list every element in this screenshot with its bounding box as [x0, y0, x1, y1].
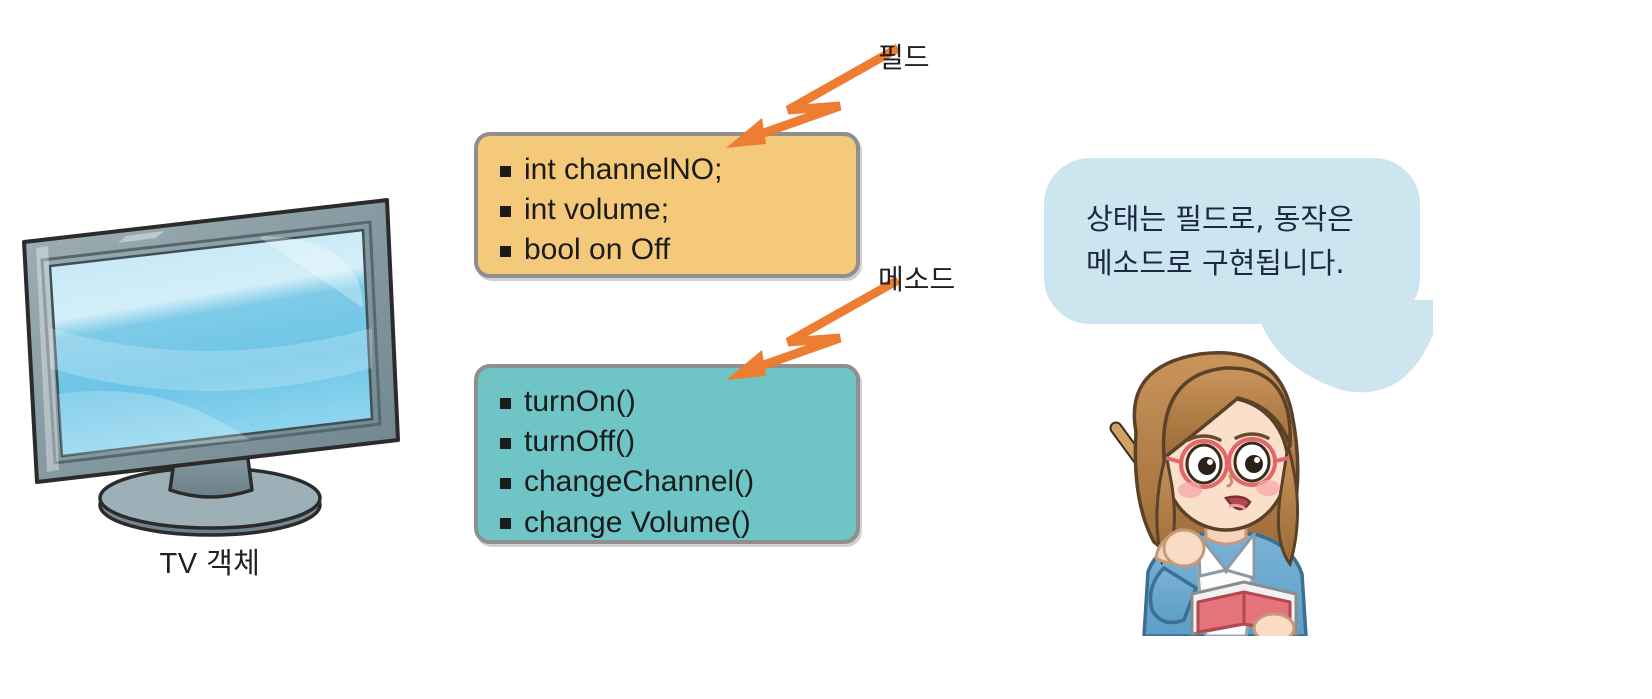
bullet-icon — [500, 438, 511, 449]
list-item: int channelNO; — [500, 150, 856, 190]
bullet-icon — [500, 166, 511, 177]
diagram-canvas: TV 객체 int channelNO; int volume; bool on… — [0, 0, 1652, 699]
bullet-icon — [500, 478, 511, 489]
field-item-label: bool on Off — [524, 230, 670, 270]
bullet-icon — [500, 518, 511, 529]
bullet-icon — [500, 398, 511, 409]
zigzag-arrow-icon — [722, 44, 902, 154]
method-member-box: turnOn() turnOff() changeChannel() chang… — [474, 364, 860, 544]
list-item: turnOn() — [500, 382, 856, 422]
list-item: bool on Off — [500, 230, 856, 270]
method-item-label: turnOff() — [524, 422, 635, 462]
callout-label-method: 메소드 — [878, 258, 955, 298]
field-item-label: int volume; — [524, 190, 669, 230]
method-item-label: change Volume() — [524, 503, 751, 543]
method-item-label: changeChannel() — [524, 462, 754, 502]
zigzag-arrow-icon — [722, 276, 902, 386]
method-item-label: turnOn() — [524, 382, 636, 422]
list-item: change Volume() — [500, 503, 856, 543]
tv-object-caption: TV 객체 — [60, 540, 360, 582]
callout-label-field: 필드 — [878, 36, 930, 76]
speech-bubble-line: 상태는 필드로, 동작은 — [1086, 197, 1420, 241]
field-item-label: int channelNO; — [524, 150, 722, 190]
list-item: int volume; — [500, 190, 856, 230]
tv-monitor-icon — [14, 178, 404, 548]
bullet-icon — [500, 246, 511, 257]
list-item: changeChannel() — [500, 462, 856, 502]
speech-bubble-line: 메소드로 구현됩니다. — [1086, 241, 1420, 285]
bullet-icon — [500, 206, 511, 217]
list-item: turnOff() — [500, 422, 856, 462]
teacher-character-icon — [1040, 336, 1370, 636]
